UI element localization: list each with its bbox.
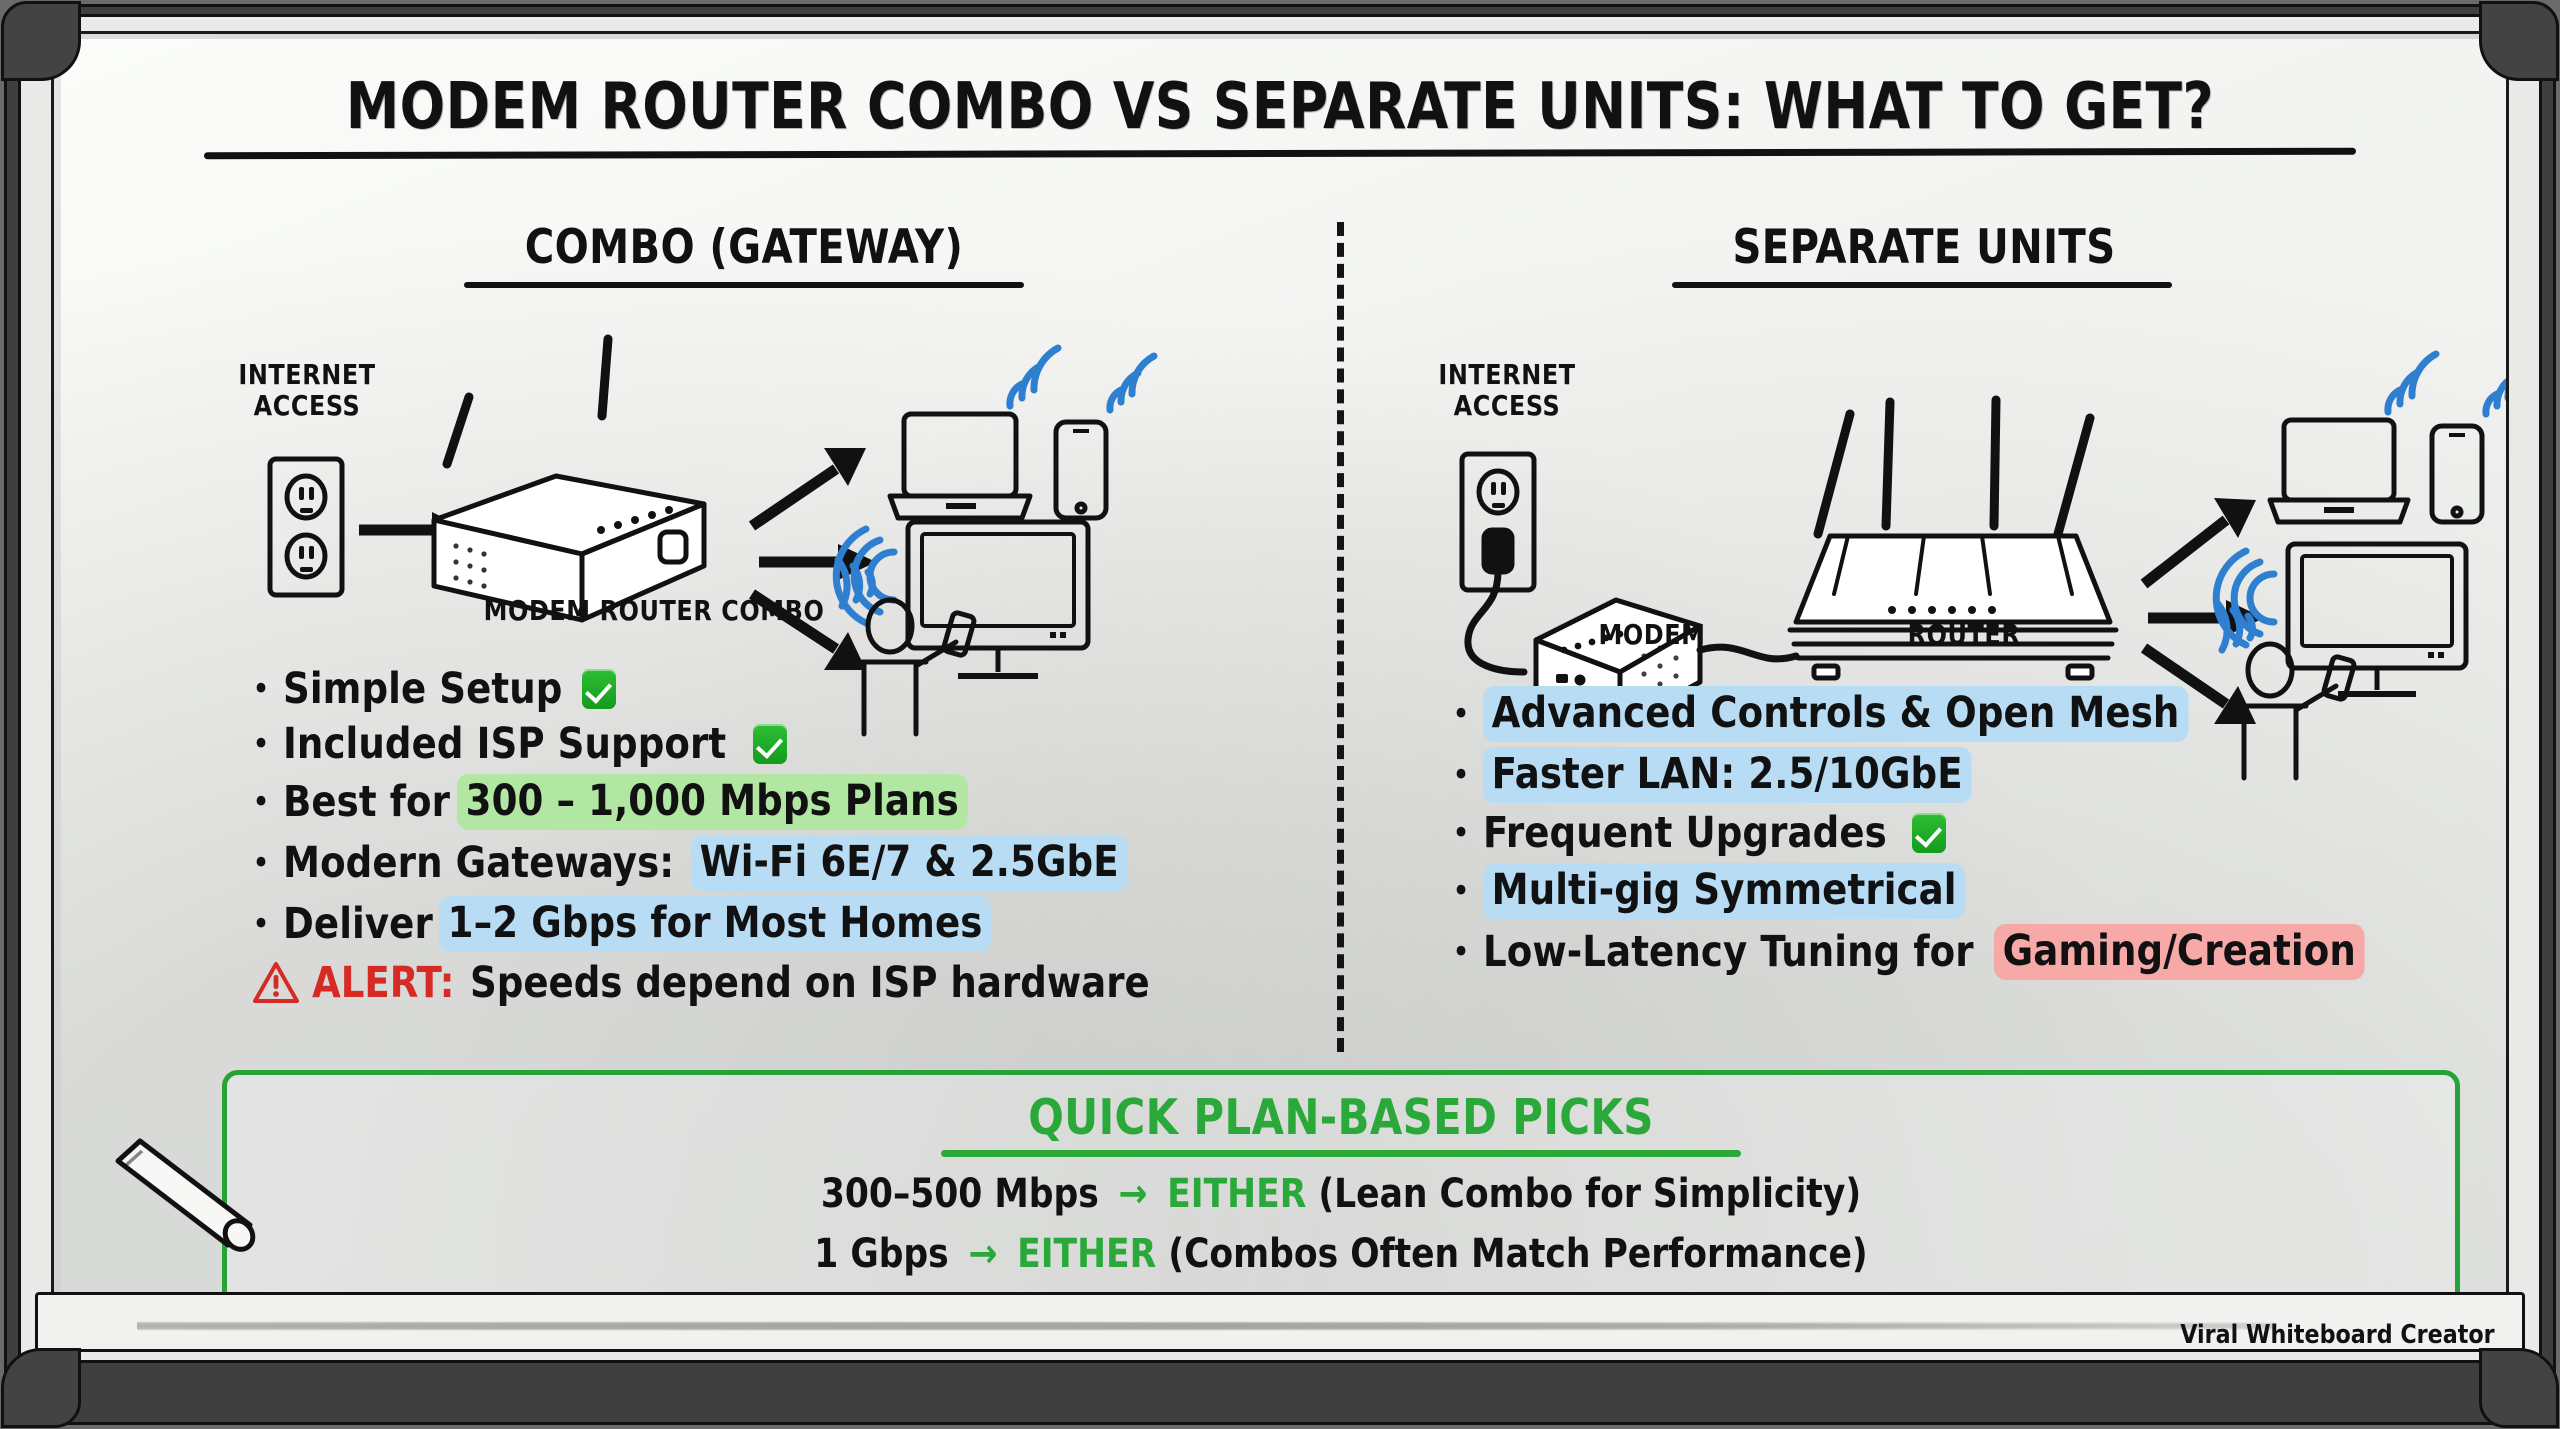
list-item-label: Low-Latency Tuning for — [1483, 927, 1974, 977]
list-item-highlight: Advanced Controls & Open Mesh — [1483, 686, 2188, 742]
list-item: • Deliver 1–2 Gbps for Most Homes — [252, 896, 1178, 952]
modem-label: MODEM — [1557, 618, 1747, 651]
list-item: • Simple Setup — [252, 664, 1178, 714]
bullet-dot: • — [252, 785, 270, 819]
whiteboard-frame-inner: MODEM ROUTER COMBO VS SEPARATE UNITS: WH… — [18, 14, 2542, 1363]
bullet-dot: • — [1452, 874, 1470, 908]
list-item-highlight: Faster LAN: 2.5/10GbE — [1483, 747, 1971, 803]
list-item: • Multi-gig Symmetrical — [1452, 863, 2380, 919]
verdict-label: EITHER — [1167, 1171, 1306, 1217]
list-item: • Modern Gateways: Wi-Fi 6E/7 & 2.5GbE — [252, 835, 1178, 891]
note-label: (Lean Combo for Simplicity) — [1318, 1171, 1861, 1217]
arrow-right-icon: → — [968, 1231, 997, 1277]
list-item-label: Included ISP Support — [283, 719, 726, 769]
list-item: • Best for 300 – 1,000 Mbps Plans — [252, 774, 1178, 830]
smartphone-icon — [2432, 426, 2482, 522]
verdict-label: EITHER — [1017, 1231, 1156, 1277]
right-column-heading-underline — [1672, 282, 2172, 288]
list-item-label: Modern Gateways: — [283, 838, 674, 888]
frame-corner-top-right — [2479, 1, 2559, 81]
list-item-highlight: 300 – 1,000 Mbps Plans — [457, 774, 967, 830]
right-internet-access-label: INTERNET ACCESS — [1417, 359, 1598, 422]
alert-row: ALERT: Speeds depend on ISP hardware — [252, 958, 1178, 1008]
quick-picks-row: 300–500 Mbps → EITHER (Lean Combo for Si… — [272, 1171, 2411, 1217]
separate-units-diagram — [1404, 434, 2509, 704]
wifi-signal-icon — [1010, 348, 1154, 410]
quick-picks-title: QUICK PLAN-BASED PICKS — [283, 1089, 2400, 1146]
plan-label: 300–500 Mbps — [821, 1171, 1099, 1217]
screenshot-root: MODEM ROUTER COMBO VS SEPARATE UNITS: WH… — [0, 0, 2560, 1429]
bullet-dot: • — [252, 907, 270, 941]
modem-router-combo-icon — [434, 339, 704, 620]
smartphone-icon — [1056, 422, 1106, 518]
combo-diagram — [204, 434, 1334, 694]
arrow-combo-to-laptop — [752, 448, 866, 526]
quick-picks-title-underline — [941, 1150, 1741, 1157]
power-cable — [1468, 572, 1524, 672]
plan-label: 1 Gbps — [814, 1231, 948, 1277]
left-internet-access-label: INTERNET ACCESS — [217, 359, 398, 422]
page-title: MODEM ROUTER COMBO VS SEPARATE UNITS: WH… — [140, 70, 2420, 144]
list-item: • Faster LAN: 2.5/10GbE — [1452, 747, 2380, 803]
alert-label: ALERT: — [312, 958, 454, 1008]
power-plug-icon — [1484, 530, 1512, 572]
left-bullet-list: • Simple Setup • Included ISP Support • … — [252, 664, 1178, 1008]
check-mark-icon — [753, 724, 787, 764]
right-column-heading: SEPARATE UNITS — [1658, 220, 2190, 275]
column-divider — [1337, 222, 1344, 1052]
list-item-label: Simple Setup — [283, 664, 562, 714]
list-item: • Frequent Upgrades — [1452, 808, 2380, 858]
arrow-router-to-laptop — [2144, 498, 2256, 584]
left-column-heading-underline — [464, 282, 1024, 288]
list-item-label: Best for — [283, 777, 450, 827]
list-item: • Low-Latency Tuning for Gaming/Creation — [1452, 924, 2380, 980]
list-item: • Included ISP Support — [252, 719, 1178, 769]
list-item-highlight: Wi-Fi 6E/7 & 2.5GbE — [691, 835, 1127, 891]
list-item-highlight: Gaming/Creation — [1994, 924, 2365, 980]
right-bullet-list: • Advanced Controls & Open Mesh • Faster… — [1452, 686, 2380, 985]
warning-triangle-icon — [252, 961, 300, 1005]
bullet-dot: • — [252, 727, 270, 761]
whiteboard-content: MODEM ROUTER COMBO VS SEPARATE UNITS: WH… — [54, 34, 2506, 1341]
quick-picks-row: 1 Gbps → EITHER (Combos Often Match Perf… — [272, 1231, 2411, 1277]
bullet-dot: • — [252, 672, 270, 706]
left-column-heading: COMBO (GATEWAY) — [440, 220, 1048, 275]
router-label: ROUTER — [1869, 618, 2059, 651]
bullet-dot: • — [252, 846, 270, 880]
wifi-signal-icon — [2388, 354, 2509, 414]
bullet-dot: • — [1452, 816, 1470, 850]
frame-corner-top-left — [1, 1, 81, 81]
list-item-label: Deliver — [283, 899, 433, 949]
whiteboard-frame: MODEM ROUTER COMBO VS SEPARATE UNITS: WH… — [4, 4, 2556, 1425]
bullet-dot: • — [1452, 697, 1470, 731]
bullet-dot: • — [1452, 758, 1470, 792]
frame-corner-bottom-left — [1, 1348, 81, 1428]
list-item-highlight: 1–2 Gbps for Most Homes — [439, 896, 991, 952]
whiteboard-marker-icon — [100, 1127, 270, 1257]
frame-corner-bottom-right — [2479, 1348, 2559, 1428]
whiteboard-surface: MODEM ROUTER COMBO VS SEPARATE UNITS: WH… — [51, 31, 2509, 1344]
alert-text: Speeds depend on ISP hardware — [470, 958, 1150, 1008]
title-underline — [204, 148, 2356, 160]
marker-tray — [35, 1292, 2525, 1352]
list-item-highlight: Multi-gig Symmetrical — [1483, 863, 1965, 919]
brand-label: Viral Whiteboard Creator — [2180, 1320, 2494, 1350]
list-item: • Advanced Controls & Open Mesh — [1452, 686, 2380, 742]
check-mark-icon — [582, 669, 616, 709]
arrow-right-icon: → — [1118, 1171, 1147, 1217]
laptop-icon — [2270, 420, 2408, 522]
combo-device-label: MODEM ROUTER COMBO — [445, 594, 863, 627]
check-mark-icon — [1912, 813, 1946, 853]
note-label: (Combos Often Match Performance) — [1168, 1231, 1867, 1277]
monitor-icon — [2288, 544, 2466, 694]
laptop-icon — [890, 414, 1030, 518]
bullet-dot: • — [1452, 935, 1470, 969]
list-item-label: Frequent Upgrades — [1483, 808, 1887, 858]
